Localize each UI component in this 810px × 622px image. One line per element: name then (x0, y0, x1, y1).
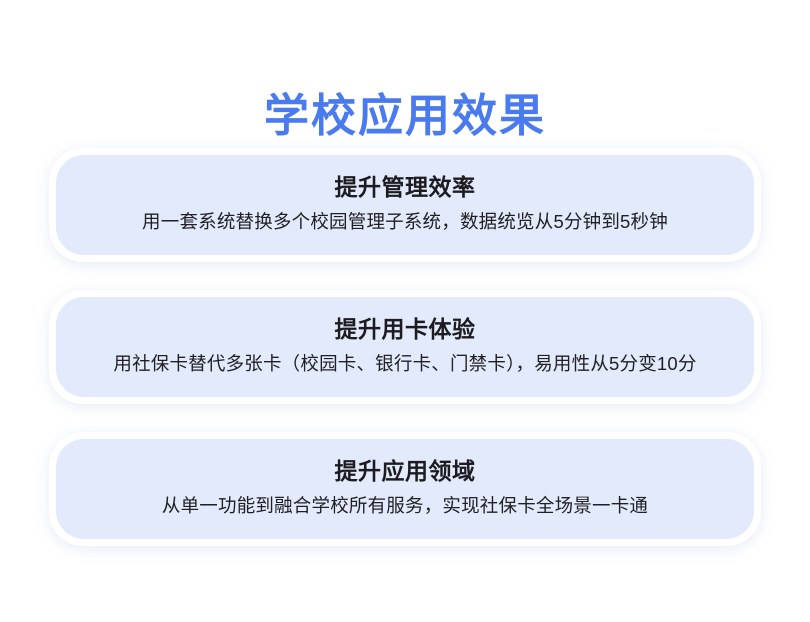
benefit-card-description: 用社保卡替代多张卡（校园卡、银行卡、门禁卡），易用性从5分变10分 (82, 350, 728, 378)
benefit-card-title: 提升用卡体验 (82, 312, 728, 346)
page-title: 学校应用效果 (0, 88, 810, 144)
benefit-card-body: 提升用卡体验 用社保卡替代多张卡（校园卡、银行卡、门禁卡），易用性从5分变10分 (56, 297, 754, 397)
benefit-card-1: 提升管理效率 用一套系统替换多个校园管理子系统，数据统览从5分钟到5秒钟 (49, 148, 761, 262)
benefit-card-title: 提升应用领域 (82, 454, 728, 488)
benefit-card-3: 提升应用领域 从单一功能到融合学校所有服务，实现社保卡全场景一卡通 (49, 432, 761, 546)
benefit-card-body: 提升管理效率 用一套系统替换多个校园管理子系统，数据统览从5分钟到5秒钟 (56, 155, 754, 255)
benefit-card-2: 提升用卡体验 用社保卡替代多张卡（校园卡、银行卡、门禁卡），易用性从5分变10分 (49, 290, 761, 404)
benefit-card-body: 提升应用领域 从单一功能到融合学校所有服务，实现社保卡全场景一卡通 (56, 439, 754, 539)
benefit-card-title: 提升管理效率 (82, 170, 728, 204)
benefit-card-list: 提升管理效率 用一套系统替换多个校园管理子系统，数据统览从5分钟到5秒钟 提升用… (0, 148, 810, 546)
benefit-card-description: 从单一功能到融合学校所有服务，实现社保卡全场景一卡通 (82, 492, 728, 520)
benefit-card-description: 用一套系统替换多个校园管理子系统，数据统览从5分钟到5秒钟 (82, 208, 728, 236)
slide-root: 学校应用效果 提升管理效率 用一套系统替换多个校园管理子系统，数据统览从5分钟到… (0, 0, 810, 622)
